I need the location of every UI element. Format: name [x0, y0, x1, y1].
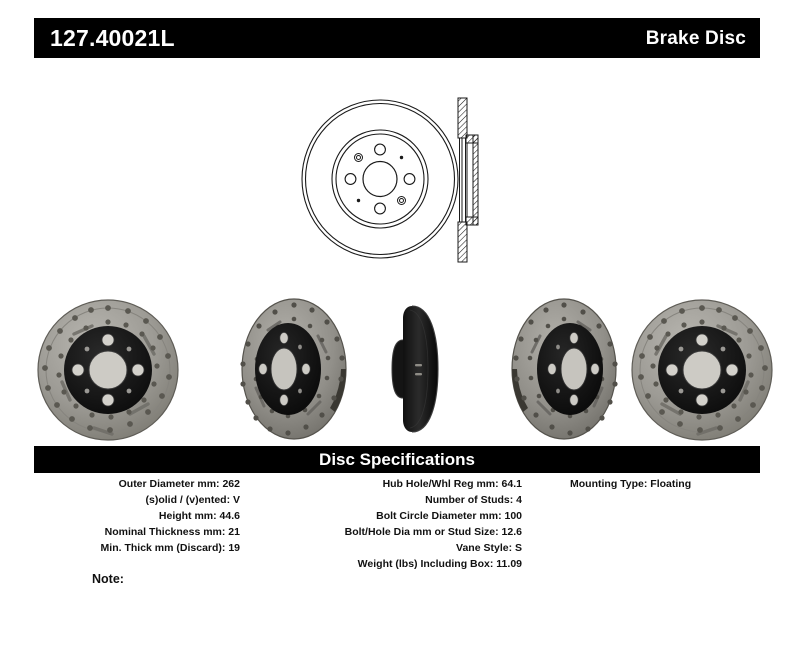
- spec-row: Height mm: 44.6: [34, 508, 276, 524]
- spec-row: Min. Thick mm (Discard): 19: [34, 540, 276, 556]
- spec-row: Hub Hole/Whl Reg mm: 64.1: [280, 476, 528, 492]
- disc-specifications-title: Disc Specifications: [319, 451, 475, 468]
- part-number: 127.40021L: [50, 27, 175, 50]
- rotor-photo-front-right: [624, 296, 776, 442]
- note-label: Note:: [92, 572, 124, 586]
- rotor-cross-section-line-drawing: [452, 90, 484, 270]
- spec-row: Outer Diameter mm: 262: [34, 476, 276, 492]
- spec-column-right: Mounting Type: Floating: [544, 476, 760, 492]
- rotor-photo-front-left: [34, 296, 186, 442]
- rotor-photo-angled-left: [222, 296, 362, 442]
- spec-row: Bolt/Hole Dia mm or Stud Size: 12.6: [280, 524, 528, 540]
- rotor-photo-edge: [386, 296, 458, 442]
- product-photo-row: [26, 296, 774, 444]
- spec-column-left: Outer Diameter mm: 262 (s)olid / (v)ente…: [34, 476, 276, 556]
- spec-row: Bolt Circle Diameter mm: 100: [280, 508, 528, 524]
- technical-drawing-area: [300, 88, 525, 278]
- disc-specifications-bar: Disc Specifications: [34, 446, 760, 473]
- header-bar: 127.40021L Brake Disc: [34, 18, 760, 58]
- note-area: Note:: [34, 568, 434, 628]
- spec-sheet: 127.40021L Brake Disc: [0, 0, 800, 655]
- rotor-face-line-drawing: [300, 98, 460, 260]
- spec-row: Vane Style: S: [280, 540, 528, 556]
- spec-row: (s)olid / (v)ented: V: [34, 492, 276, 508]
- spec-column-middle: Hub Hole/Whl Reg mm: 64.1 Number of Stud…: [280, 476, 528, 572]
- spec-row: Mounting Type: Floating: [544, 476, 760, 492]
- specifications-table: Outer Diameter mm: 262 (s)olid / (v)ente…: [34, 476, 760, 576]
- spec-row: Number of Studs: 4: [280, 492, 528, 508]
- spec-row: Nominal Thickness mm: 21: [34, 524, 276, 540]
- product-type-label: Brake Disc: [646, 29, 746, 48]
- rotor-photo-angled-right: [496, 296, 636, 442]
